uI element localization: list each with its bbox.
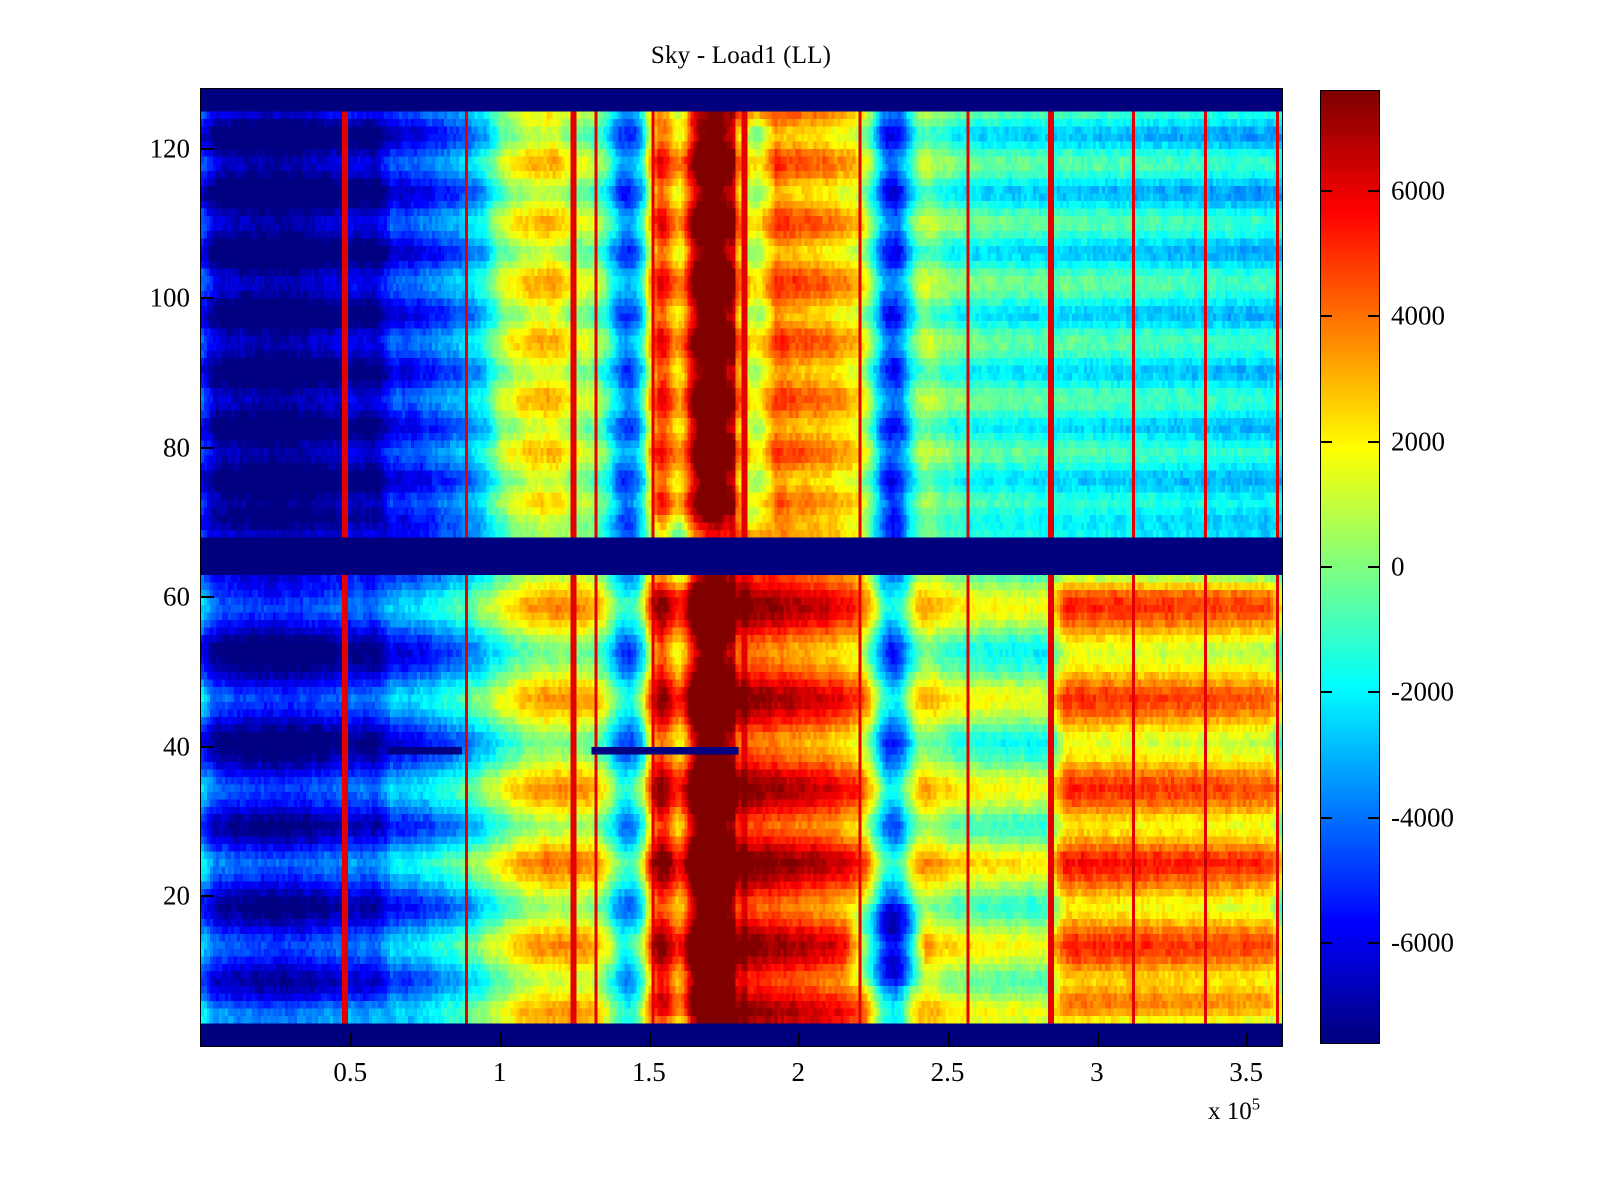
colorbar-tick-label: 0	[1391, 552, 1405, 583]
x-tick-label: 3	[1090, 1057, 1104, 1088]
colorbar-tick-label: -6000	[1391, 927, 1454, 958]
page-title: Sky - Load1 (LL)	[0, 42, 1482, 70]
x-tick-label: 2.5	[931, 1057, 965, 1088]
x-tick-label: 0.5	[333, 1057, 367, 1088]
matlab-figure-window: Sky - Load1 (LL) 20406080100120 0.511.52…	[0, 0, 1600, 1200]
colorbar-tick-label: -2000	[1391, 677, 1454, 708]
x-tick-label: 1.5	[632, 1057, 666, 1088]
y-tick-label: 40	[163, 731, 190, 762]
y-tick-label: 120	[150, 133, 191, 164]
colorbar-gradient	[1321, 91, 1379, 1043]
colorbar: -6000-4000-20000200040006000	[1320, 90, 1380, 1044]
colorbar-tick-label: 4000	[1391, 301, 1445, 332]
heatmap-image	[201, 89, 1282, 1046]
heatmap-axes: 20406080100120 0.511.522.533.5	[200, 88, 1283, 1047]
y-tick-label: 100	[150, 283, 191, 314]
x-tick-label: 2	[791, 1057, 805, 1088]
y-tick-label: 60	[163, 582, 190, 613]
x-tick-label: 1	[493, 1057, 507, 1088]
x-tick-label: 3.5	[1229, 1057, 1263, 1088]
colorbar-tick-label: 6000	[1391, 176, 1445, 207]
colorbar-tick-label: 2000	[1391, 426, 1445, 457]
colorbar-tick-label: -4000	[1391, 802, 1454, 833]
x-axis-multiplier-label: x 105	[1208, 1098, 1260, 1126]
y-tick-label: 80	[163, 432, 190, 463]
y-tick-label: 20	[163, 881, 190, 912]
